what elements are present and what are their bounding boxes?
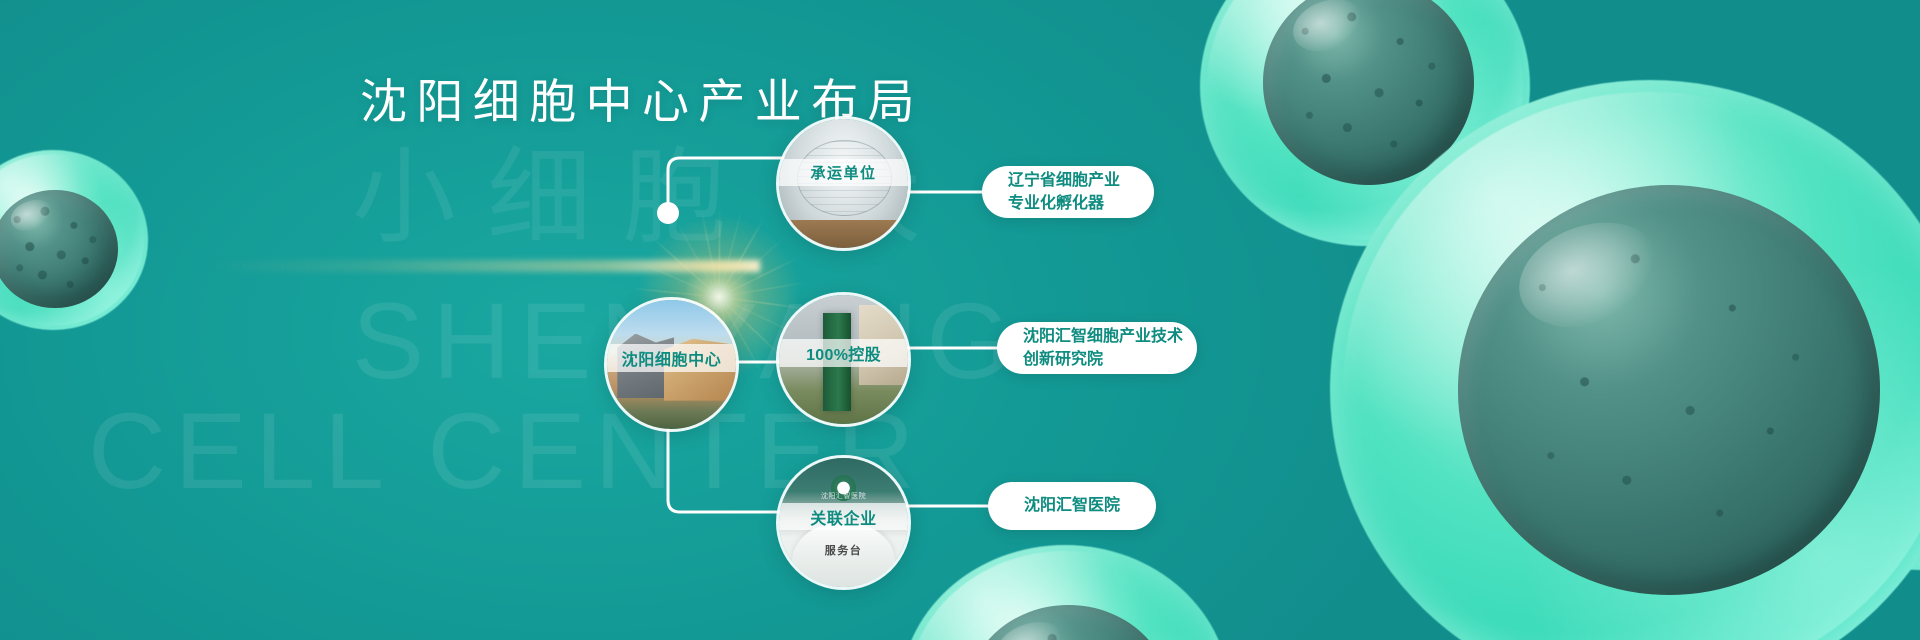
cell-membrane	[0, 150, 148, 330]
cell-illustration-bottom	[900, 545, 1230, 640]
node-branch-carrier-unit[interactable]: 承运单位	[776, 116, 911, 251]
cell-illustration-top-right	[1200, 0, 1530, 246]
branch-dot-top	[657, 202, 679, 224]
node-mid-label: 100%控股	[779, 339, 908, 367]
cell-nucleus	[1458, 185, 1880, 594]
connector-lines	[0, 0, 1920, 640]
pill-mid-line-1: 沈阳汇智细胞产业技术	[1023, 325, 1171, 348]
hospital-brand-text: 沈阳汇智医院	[779, 491, 908, 501]
node-branch-full-ownership[interactable]: 100%控股	[776, 292, 911, 427]
pill-research-institute[interactable]: 沈阳汇智细胞产业技术 创新研究院	[997, 322, 1197, 374]
banner-root: 小细胞 大 SHENYANG CELL CENTER 沈阳细胞中心产业布局	[0, 0, 1920, 640]
node-branch-affiliated-enterprise[interactable]: 沈阳汇智医院 关联企业 服务台	[776, 455, 911, 590]
pill-incubator[interactable]: 辽宁省细胞产业 专业化孵化器	[982, 166, 1154, 218]
cell-illustration-far-right	[1800, 330, 1920, 570]
node-center-label: 沈阳细胞中心	[607, 344, 736, 372]
cell-illustration-large-right	[1330, 80, 1920, 640]
cell-membrane	[1330, 80, 1920, 640]
pill-bottom-line-1: 沈阳汇智医院	[1024, 494, 1120, 517]
cell-membrane	[1200, 0, 1530, 246]
reception-desk-caption: 服务台	[779, 542, 908, 558]
flare-streak	[200, 260, 760, 272]
pill-top-line-2: 专业化孵化器	[1008, 192, 1128, 215]
node-bottom-label: 关联企业	[779, 503, 908, 530]
connector-center-to-top	[668, 158, 784, 213]
node-center-shenyang-cell-center[interactable]: 沈阳细胞中心	[604, 297, 739, 432]
pill-hospital[interactable]: 沈阳汇智医院	[988, 482, 1156, 530]
cell-illustration-left	[0, 150, 148, 330]
cell-membrane	[900, 545, 1230, 640]
cell-nucleus	[0, 190, 118, 309]
cell-nucleus	[1263, 0, 1474, 185]
cell-nucleus	[1848, 378, 1920, 527]
cell-membrane	[1800, 330, 1920, 570]
pill-mid-line-2: 创新研究院	[1023, 348, 1171, 371]
cell-nucleus	[966, 605, 1171, 640]
node-top-label: 承运单位	[779, 159, 908, 186]
pill-top-line-1: 辽宁省细胞产业	[1008, 169, 1128, 192]
